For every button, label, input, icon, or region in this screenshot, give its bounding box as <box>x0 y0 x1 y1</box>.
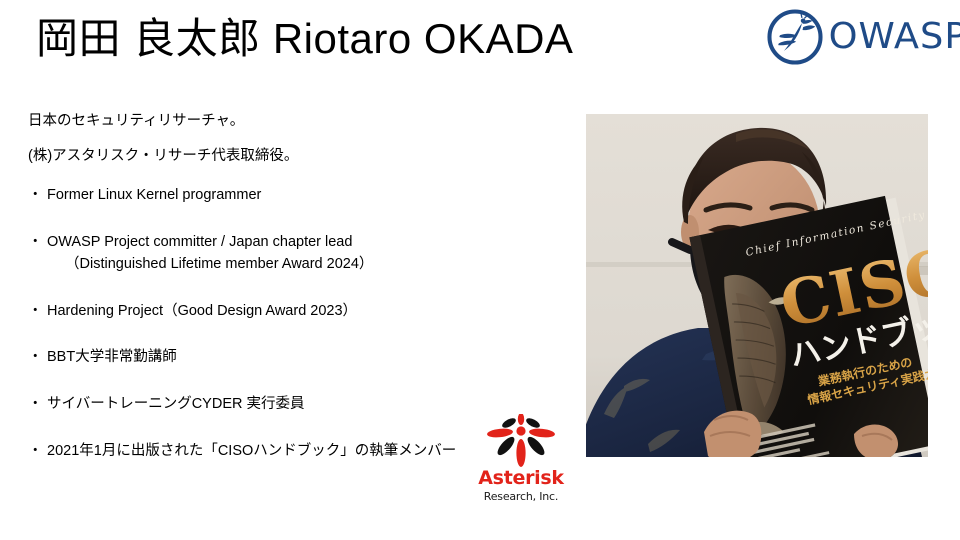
list-item-label: 2021年1月に出版された「CISOハンドブック」の執筆メンバー <box>47 443 456 459</box>
asterisk-starburst-icon <box>473 414 569 470</box>
bullet-marker: ・ <box>28 301 43 323</box>
owasp-wordmark-text: OWASP <box>829 19 960 55</box>
lead-line-2: (株)アスタリスク・リサーチ代表取締役。 <box>28 147 568 165</box>
page-title: 岡田 良太郎 Riotaro OKADA <box>36 14 573 64</box>
list-item: ・ BBT大学非常勤講師 <box>28 347 568 369</box>
list-item-label: サイバートレーニングCYDER 実行委員 <box>47 396 305 412</box>
list-item-sublabel: （Distinguished Lifetime member Award 202… <box>47 254 568 276</box>
slide-root: 岡田 良太郎 Riotaro OKADA OWAS <box>0 0 960 540</box>
bullet-marker: ・ <box>28 185 43 207</box>
bullet-marker: ・ <box>28 394 43 416</box>
list-item-label: Former Linux Kernel programmer <box>47 187 261 203</box>
owasp-logo: OWASP ™ <box>766 6 956 68</box>
owasp-wordmark: OWASP ™ <box>830 19 960 55</box>
list-item-label: Hardening Project（Good Design Award 2023… <box>47 303 357 319</box>
owasp-dragonfly-icon <box>766 8 824 66</box>
asterisk-logo-subtitle: Research, Inc. <box>473 491 569 502</box>
list-item: ・ Hardening Project（Good Design Award 20… <box>28 301 568 323</box>
lead-line-1: 日本のセキュリティリサーチャ。 <box>28 112 568 130</box>
list-item-label: BBT大学非常勤講師 <box>47 349 177 365</box>
speaker-photo-image: Chief Information Security Officer CISO … <box>586 114 928 457</box>
asterisk-logo-name: Asterisk <box>473 469 569 488</box>
asterisk-research-logo: Asterisk Research, Inc. <box>473 414 569 510</box>
list-item: ・ サイバートレーニングCYDER 実行委員 <box>28 394 568 416</box>
list-item: ・ OWASP Project committer / Japan chapte… <box>28 232 568 276</box>
list-item-label: OWASP Project committer / Japan chapter … <box>47 234 352 250</box>
bullet-marker: ・ <box>28 232 43 254</box>
bullet-marker: ・ <box>28 347 43 369</box>
list-item: ・ Former Linux Kernel programmer <box>28 185 568 207</box>
speaker-photo: Chief Information Security Officer CISO … <box>586 114 928 457</box>
profile-text-block: 日本のセキュリティリサーチャ。 (株)アスタリスク・リサーチ代表取締役。 ・ F… <box>28 112 568 463</box>
bullet-marker: ・ <box>28 441 43 463</box>
